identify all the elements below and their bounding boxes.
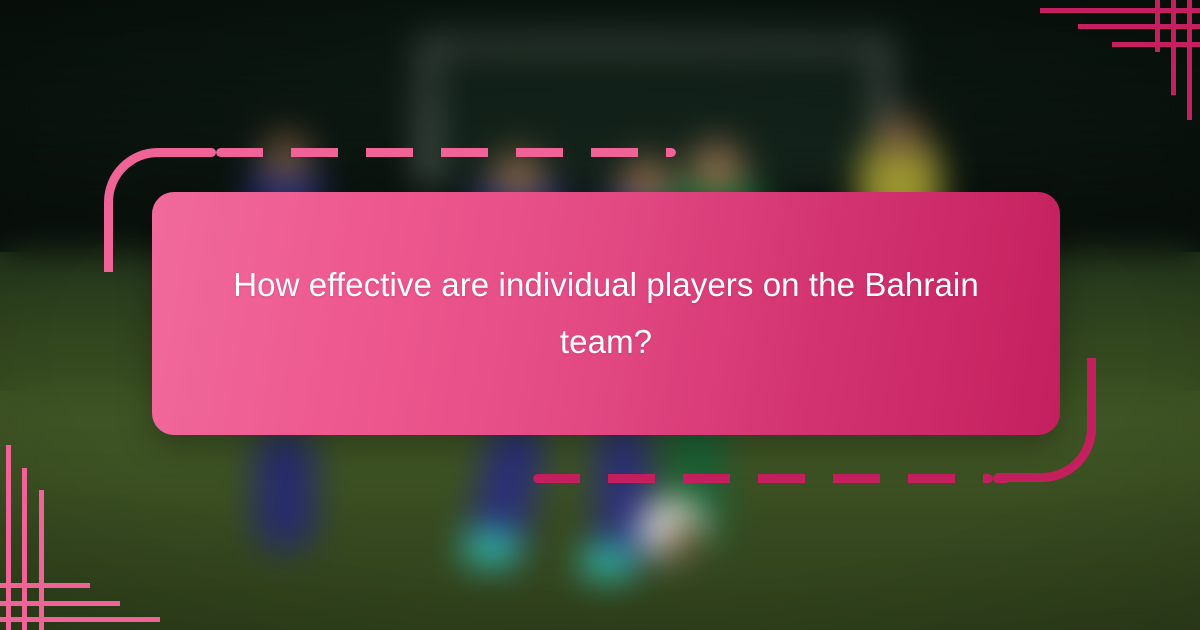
frame-elbow-bottom-right-cap: [1087, 358, 1096, 368]
share-card-canvas: How effective are individual players on …: [0, 0, 1200, 630]
deco-line-v1: [6, 445, 11, 630]
frame-dash-cap-top-left: [199, 148, 216, 157]
frame-dashes-bottom: [533, 474, 993, 483]
deco-line-v2: [1171, 0, 1176, 95]
frame-dashes-top: [216, 148, 676, 157]
frame-dash-cap-bottom-right: [993, 474, 1010, 483]
page-title: How effective are individual players on …: [206, 257, 1006, 371]
corner-decoration-top-right: [1040, 0, 1200, 120]
deco-line-v2: [22, 468, 27, 630]
frame-elbow-top-left-cap: [104, 262, 113, 272]
deco-line-v3: [39, 490, 44, 630]
deco-line-h2: [1078, 24, 1200, 29]
headline-card: How effective are individual players on …: [152, 192, 1060, 435]
deco-line-v1: [1187, 0, 1192, 120]
deco-line-h1: [1040, 8, 1200, 13]
deco-line-v3: [1155, 0, 1160, 52]
corner-decoration-bottom-left: [0, 445, 160, 630]
deco-line-h3: [0, 583, 90, 588]
deco-line-h2: [0, 601, 120, 606]
